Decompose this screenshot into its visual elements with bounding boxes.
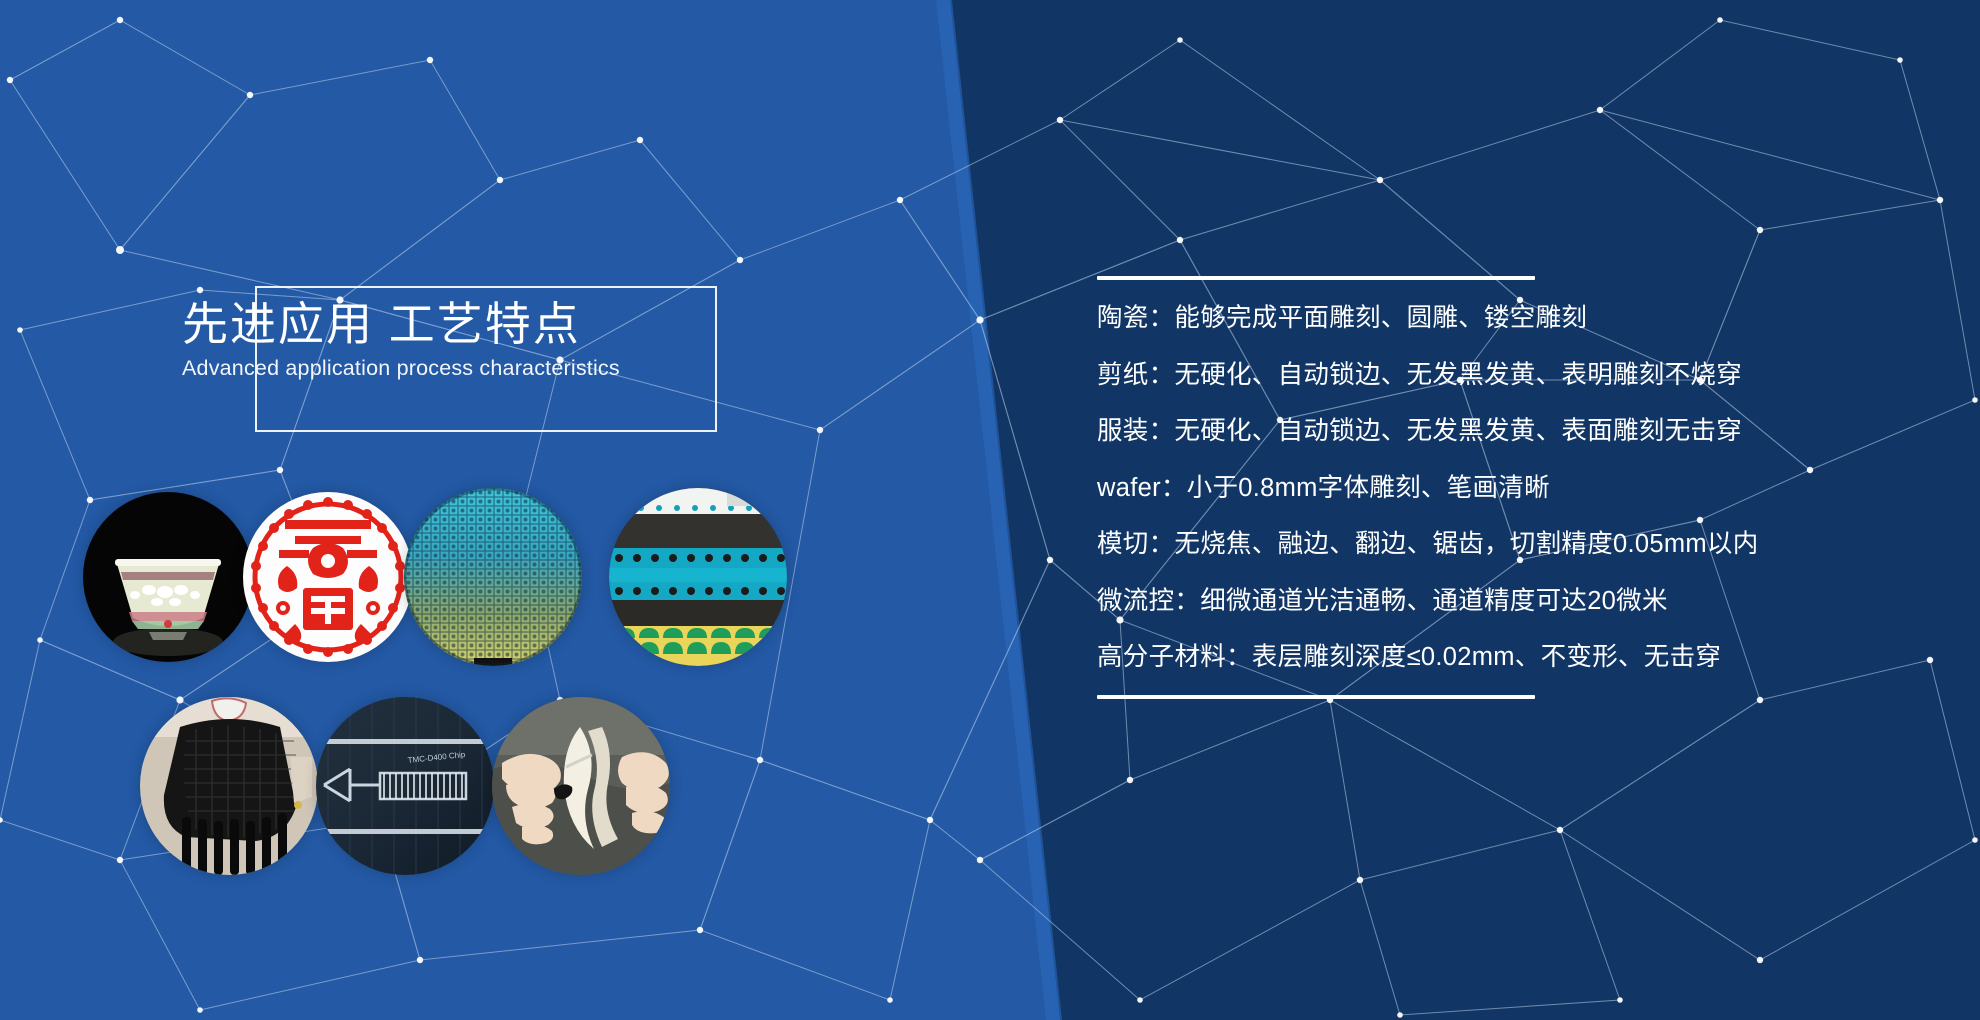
slide-root: 先进应用 工艺特点 Advanced application process c… <box>0 0 1980 1020</box>
spec-line-garment: 服装：无硬化、自动锁边、无发黑发黄、表面雕刻无击穿 <box>1097 419 1897 445</box>
divider-top <box>1097 276 1535 280</box>
spec-line-ceramic: 陶瓷：能够完成平面雕刻、圆雕、镂空雕刻 <box>1097 306 1897 332</box>
gallery-item-silicon-wafer[interactable] <box>404 488 582 666</box>
spec-line-microfluidic: 微流控：细微通道光洁通畅、通道精度可达20微米 <box>1097 589 1897 615</box>
spec-line-polymer: 高分子材料：表层雕刻深度≤0.02mm、不变形、无击穿 <box>1097 645 1897 671</box>
spec-list: 陶瓷：能够完成平面雕刻、圆雕、镂空雕刻 剪纸：无硬化、自动锁边、无发黑发黄、表明… <box>1097 276 1897 699</box>
spec-line-wafer: wafer：小于0.8mm字体雕刻、笔画清晰 <box>1097 476 1897 502</box>
gallery-item-die-cut-film[interactable] <box>609 488 787 666</box>
spec-line-papercut: 剪纸：无硬化、自动锁边、无发黑发黄、表明雕刻不烧穿 <box>1097 363 1897 389</box>
page-title: 先进应用 工艺特点 <box>182 300 802 348</box>
gallery-item-microfluidic-chip[interactable]: TMC-D400 Chip <box>316 697 494 875</box>
gallery-item-laser-cut-garment[interactable] <box>140 697 318 875</box>
gallery-item-ceramic-bowl[interactable] <box>83 492 253 662</box>
gallery-item-polymer-film[interactable] <box>492 697 670 875</box>
divider-bottom <box>1097 695 1535 699</box>
gallery-item-paper-cut-fu[interactable] <box>243 492 413 662</box>
spec-line-diecut: 模切：无烧焦、融边、翻边、锯齿，切割精度0.05mm以内 <box>1097 532 1897 558</box>
page-subtitle: Advanced application process characteris… <box>182 356 802 381</box>
